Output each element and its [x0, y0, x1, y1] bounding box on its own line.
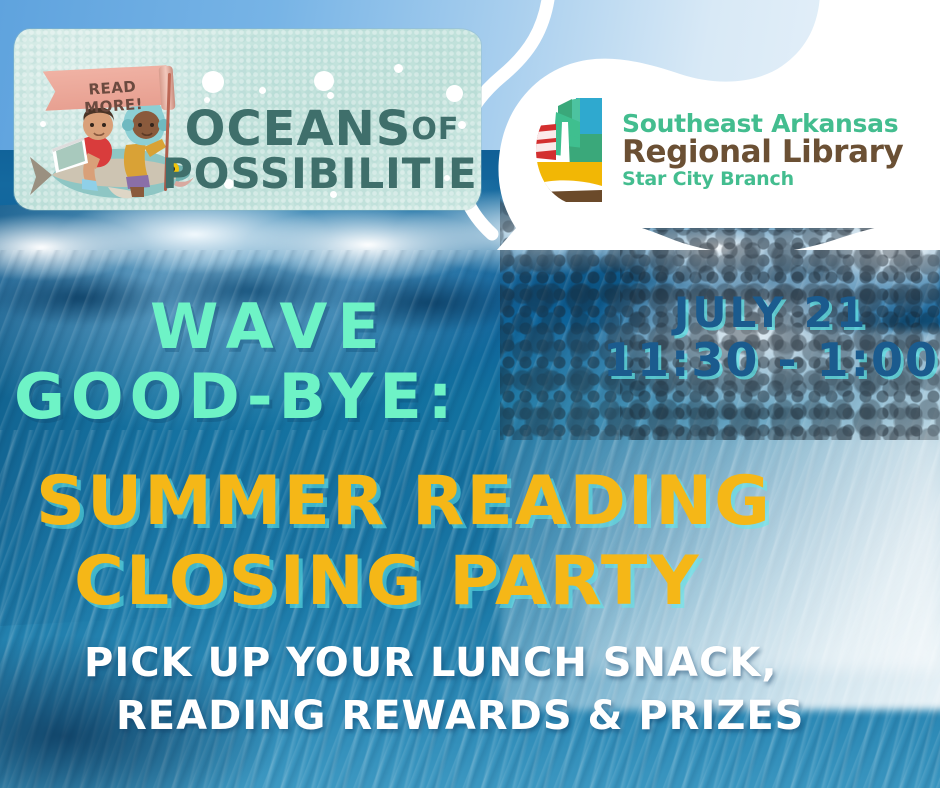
headline-line-1: WAVE: [150, 296, 390, 358]
read-more-label: READ MORE!: [57, 75, 169, 119]
event-date-time: JULY 21 11:30 - 1:00: [602, 292, 940, 384]
program-line-2: POSSIBILITIES: [162, 155, 481, 194]
event-date: JULY 21: [602, 292, 940, 335]
summer-reading-program-banner: READ MORE! OCEANSOF POSSIBILITIES: [14, 29, 481, 210]
headline-line-4: CLOSING PARTY: [74, 548, 700, 616]
program-line-1: OCEANSOF: [162, 107, 481, 151]
library-logo[interactable]: Southeast Arkansas Regional Library Star…: [536, 96, 903, 204]
logo-wordmark: Southeast Arkansas Regional Library Star…: [622, 111, 903, 189]
event-flyer-poster: Southeast Arkansas Regional Library Star…: [0, 0, 940, 788]
logo-line-1: Southeast Arkansas: [622, 111, 903, 136]
headline-line-3: SUMMER READING: [36, 468, 772, 536]
logo-line-3: Star City Branch: [622, 170, 903, 189]
bubble-icon: [259, 87, 266, 94]
subtext-line-1: PICK UP YOUR LUNCH SNACK,: [84, 643, 778, 683]
event-time: 11:30 - 1:00: [602, 337, 940, 384]
program-wordmark: OCEANSOF POSSIBILITIES: [162, 107, 481, 194]
tree-sunburst-logo-icon: [536, 96, 608, 204]
headline-line-2: GOOD-BYE:: [14, 366, 459, 428]
logo-line-2: Regional Library: [622, 137, 903, 168]
bubble-icon: [394, 64, 403, 73]
subtext-line-2: READING REWARDS & PRIZES: [116, 696, 805, 736]
bubble-icon: [314, 71, 334, 91]
bubble-icon: [327, 92, 334, 99]
bubble-icon: [446, 85, 463, 102]
program-of-word: OF: [411, 112, 459, 147]
